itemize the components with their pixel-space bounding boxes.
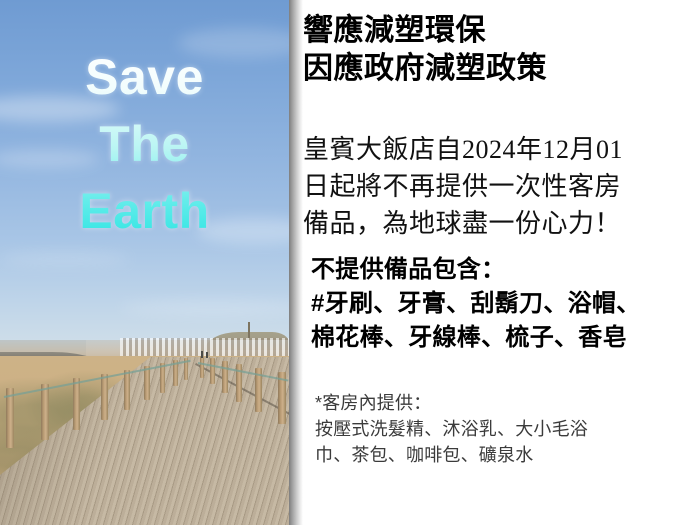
notice-text-panel: 響應減塑環保 因應政府減塑政策 皇賓大飯店自2024年12月01 日起將不再提供…	[303, 0, 700, 525]
announcement-line-2: 日起將不再提供一次性客房	[303, 168, 700, 205]
fence-post	[73, 378, 80, 430]
distant-tower	[248, 322, 250, 338]
announcement-line-1: 皇賓大飯店自2024年12月01	[303, 131, 700, 168]
provided-note-title: *客房內提供：	[315, 390, 700, 416]
provided-note-line-1: 按壓式洗髮精、沐浴乳、大小毛浴	[315, 416, 700, 442]
provided-amenities-note: *客房內提供： 按壓式洗髮精、沐浴乳、大小毛浴 巾、茶包、咖啡包、礦泉水	[315, 390, 700, 468]
photo-panel-gradient-seam	[289, 0, 303, 525]
announcement-paragraph: 皇賓大飯店自2024年12月01 日起將不再提供一次性客房 備品，為地球盡一份心…	[303, 131, 700, 242]
headline-line-1: Save	[0, 44, 289, 111]
heading-line-2: 因應政府減塑政策	[303, 50, 700, 88]
provided-note-line-2: 巾、茶包、咖啡包、礦泉水	[315, 442, 700, 468]
announcement-line-3: 備品，為地球盡一份心力！	[303, 205, 700, 242]
excluded-list-line-1: #牙刷、牙膏、刮鬍刀、浴帽、	[311, 287, 700, 321]
fence-post	[200, 356, 204, 378]
fence-post	[101, 374, 108, 420]
save-the-earth-headline: Save The Earth	[0, 44, 289, 245]
fence-post	[144, 366, 150, 400]
headline-line-3: Earth	[0, 178, 289, 245]
cloud-wisp	[0, 252, 130, 266]
fence-post	[41, 384, 49, 440]
beach-boardwalk-photo: Save The Earth	[0, 0, 289, 525]
excluded-list-title: 不提供備品包含：	[311, 253, 700, 287]
headline-line-2: The	[0, 111, 289, 178]
excluded-list-line-2: 棉花棒、牙線棒、梳子、香皂	[311, 321, 700, 355]
excluded-amenities-list: 不提供備品包含： #牙刷、牙膏、刮鬍刀、浴帽、 棉花棒、牙線棒、梳子、香皂	[311, 253, 700, 355]
notice-heading: 響應減塑環保 因應政府減塑政策	[303, 12, 700, 88]
heading-line-1: 響應減塑環保	[303, 12, 700, 50]
fence-post	[222, 361, 228, 393]
fence-post	[124, 370, 130, 410]
plastic-reduction-notice-poster: Save The Earth 響應減塑環保 因應政府減塑政策 皇賓大飯店自202…	[0, 0, 700, 525]
distant-walker	[201, 351, 203, 358]
distant-walker	[206, 352, 208, 358]
distant-buildings	[120, 338, 289, 358]
fence-post	[210, 358, 215, 384]
